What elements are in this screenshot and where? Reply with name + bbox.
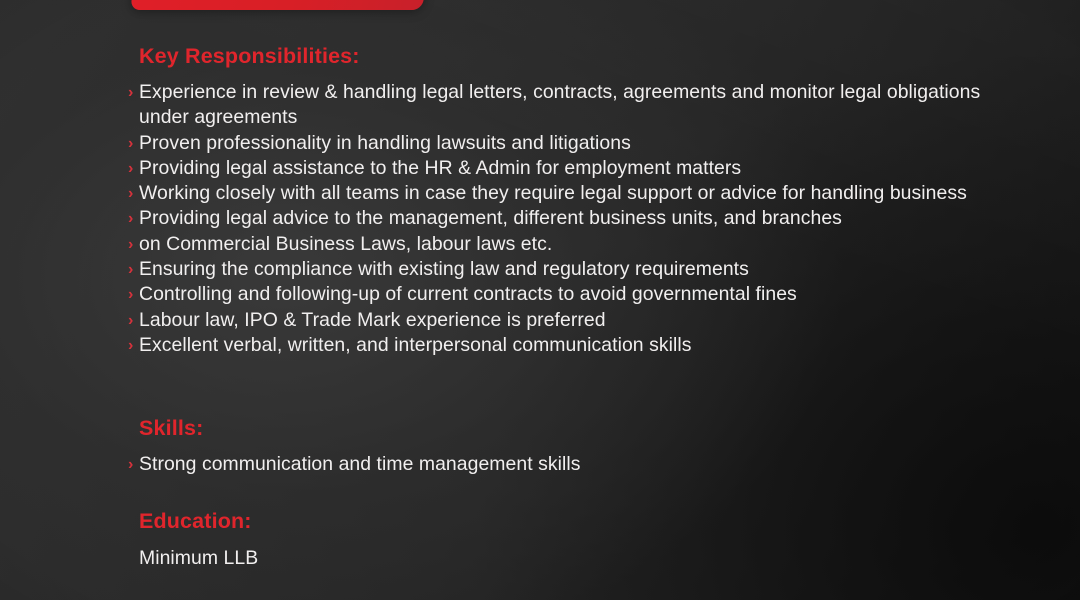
section-heading-education: Education: [139,509,252,534]
responsibility-item-text: Working closely with all teams in case t… [139,182,967,204]
chevron-right-icon: › [128,452,139,478]
chevron-right-icon: › [128,232,139,258]
responsibility-item: ›Excellent verbal, written, and interper… [128,333,1008,358]
responsibility-item: ›Working closely with all teams in case … [128,181,1008,206]
responsibility-item-text: Experience in review & handling legal le… [139,81,986,128]
chevron-right-icon: › [128,181,139,207]
slide-content: Key Responsibilities: ›Experience in rev… [0,0,1080,600]
chevron-right-icon: › [128,282,139,308]
responsibility-item-text: Excellent verbal, written, and interpers… [139,334,691,356]
section-heading-responsibilities: Key Responsibilities: [139,44,360,69]
responsibility-item-text: Providing legal advice to the management… [139,207,842,229]
skill-item-text: Strong communication and time management… [139,453,580,475]
responsibility-item: ›on Commercial Business Laws, labour law… [128,232,1008,257]
responsibility-item-text: Controlling and following-up of current … [139,283,797,305]
chevron-right-icon: › [128,156,139,182]
chevron-right-icon: › [128,308,139,334]
responsibility-item-text: Labour law, IPO & Trade Mark experience … [139,309,606,331]
responsibility-item: ›Labour law, IPO & Trade Mark experience… [128,308,1008,333]
skill-item: ›Strong communication and time managemen… [128,452,1008,477]
responsibility-item-text: Proven professionality in handling lawsu… [139,132,631,154]
responsibilities-list: ›Experience in review & handling legal l… [128,80,1008,358]
responsibility-item-text: Ensuring the compliance with existing la… [139,258,749,280]
responsibility-item: ›Ensuring the compliance with existing l… [128,257,1008,282]
responsibility-item: ›Experience in review & handling legal l… [128,80,1008,131]
education-value: Minimum LLB [139,546,258,571]
responsibility-item: ›Proven professionality in handling laws… [128,131,1008,156]
responsibility-item-text: Providing legal assistance to the HR & A… [139,157,741,179]
job-posting-slide: Key Responsibilities: ›Experience in rev… [0,0,1080,600]
chevron-right-icon: › [128,206,139,232]
responsibility-item: ›Providing legal assistance to the HR & … [128,156,1008,181]
chevron-right-icon: › [128,131,139,157]
chevron-right-icon: › [128,80,139,106]
chevron-right-icon: › [128,257,139,283]
chevron-right-icon: › [128,333,139,359]
responsibility-item-text: on Commercial Business Laws, labour laws… [139,233,552,255]
section-heading-skills: Skills: [139,416,203,441]
skills-list: ›Strong communication and time managemen… [128,452,1008,477]
responsibility-item: ›Providing legal advice to the managemen… [128,206,1008,231]
responsibility-item: ›Controlling and following-up of current… [128,282,1008,307]
